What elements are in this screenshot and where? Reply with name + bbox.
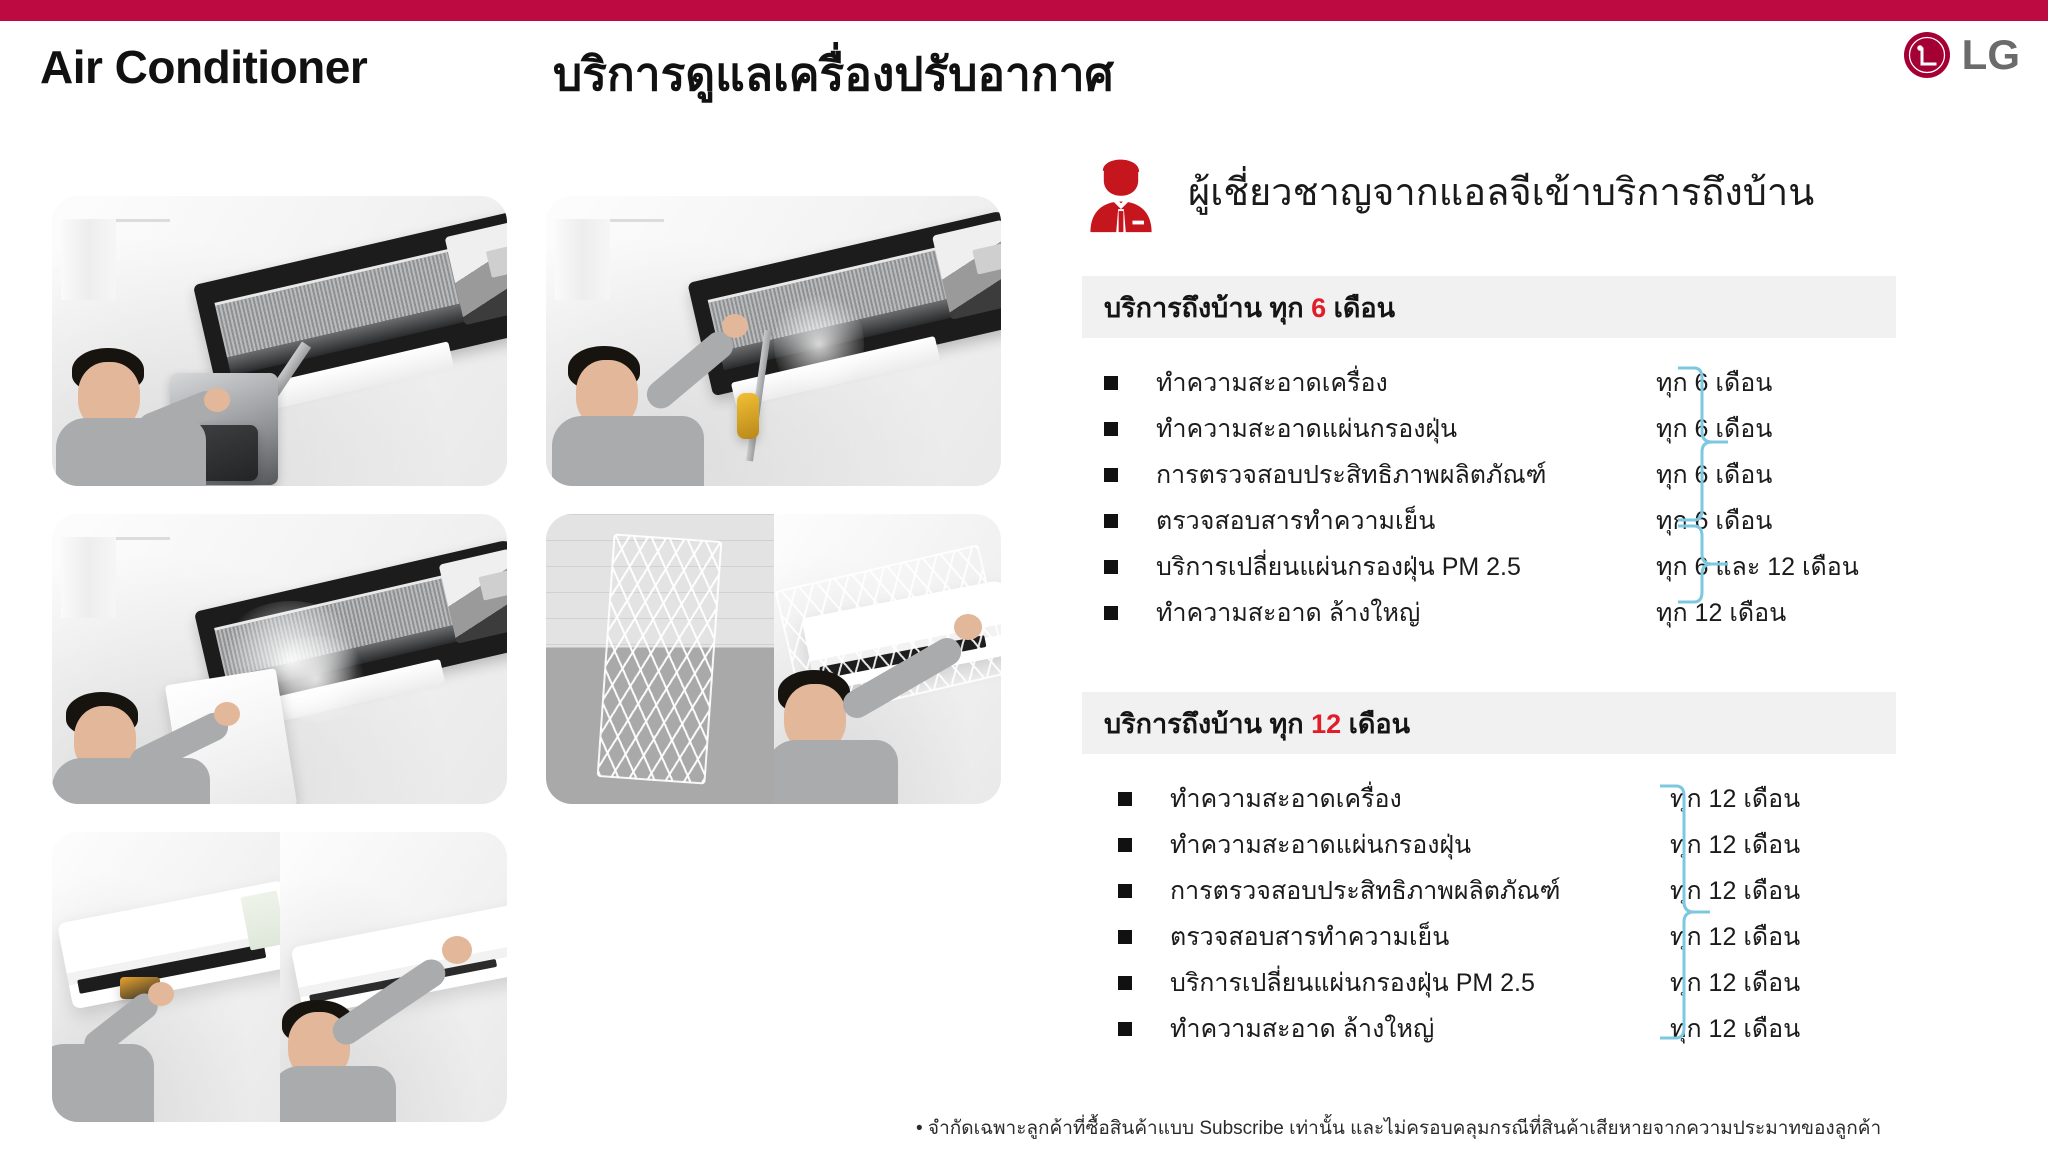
bullet-icon (1118, 1022, 1132, 1036)
photo-row-2 (52, 514, 1001, 804)
service-task: บริการเปลี่ยนแผ่นกรองฝุ่น PM 2.5 (1156, 547, 1656, 587)
service-frequency: ทุก 12 เดือน (1656, 593, 1786, 633)
table-row: บริการเปลี่ยนแผ่นกรองฝุ่น PM 2.5 ทุก 12 … (1082, 960, 1896, 1006)
slide-root: Air Conditioner บริการดูแลเครื่องปรับอาก… (0, 0, 2048, 1152)
lg-wordmark: LG (1962, 34, 2020, 76)
bullet-icon (1104, 468, 1118, 482)
service-frequency: ทุก 6 เดือน (1656, 455, 1772, 495)
service-task: การตรวจสอบประสิทธิภาพผลิตภัณฑ์ (1156, 455, 1656, 495)
bullet-icon (1104, 422, 1118, 436)
lg-logo: LG (1902, 30, 2020, 80)
bullet-icon (1118, 976, 1132, 990)
bullet-icon (1104, 376, 1118, 390)
service-frequency: ทุก 6 และ 12 เดือน (1656, 547, 1859, 587)
section-header-suffix: เดือน (1326, 293, 1395, 323)
technician-icon (1082, 148, 1160, 234)
service-frequency: ทุก 12 เดือน (1670, 825, 1800, 865)
photo-technician-vacuuming-open-ac-unit (52, 196, 507, 486)
photo-grid (52, 196, 1001, 1150)
photo-row-1 (52, 196, 1001, 486)
photo-pane-installing-filter (774, 514, 1002, 804)
bullet-icon (1118, 884, 1132, 898)
table-row: การตรวจสอบประสิทธิภาพผลิตภัณฑ์ ทุก 12 เด… (1082, 868, 1896, 914)
service-task: การตรวจสอบประสิทธิภาพผลิตภัณฑ์ (1170, 871, 1670, 911)
service-frequency: ทุก 12 เดือน (1670, 779, 1800, 819)
service-task: ทำความสะอาดแผ่นกรองฝุ่น (1170, 825, 1670, 865)
table-row: ทำความสะอาด ล้างใหญ่ ทุก 12 เดือน (1082, 1006, 1896, 1052)
photo-pane-filter-panel (546, 514, 774, 804)
service-section-12-months: บริการถึงบ้าน ทุก 12 เดือน ทำความสะอาดเค… (1082, 692, 1896, 1052)
service-rows-12-months: ทำความสะอาดเครื่อง ทุก 12 เดือน ทำความสะ… (1082, 776, 1896, 1052)
service-task: ตรวจสอบสารทำความเย็น (1170, 917, 1670, 957)
service-task: บริการเปลี่ยนแผ่นกรองฝุ่น PM 2.5 (1170, 963, 1670, 1003)
bullet-icon (1104, 560, 1118, 574)
section-header-12-months: บริการถึงบ้าน ทุก 12 เดือน (1082, 692, 1896, 754)
table-row: ทำความสะอาดเครื่อง ทุก 12 เดือน (1082, 776, 1896, 822)
page-title-thai: บริการดูแลเครื่องปรับอากาศ (553, 38, 1114, 111)
top-accent-banner (0, 0, 2048, 21)
section-header-number: 12 (1311, 709, 1341, 739)
expert-callout: ผู้เชี่ยวชาญจากแอลจีเข้าบริการถึงบ้าน (1082, 148, 1814, 234)
table-row: ทำความสะอาดแผ่นกรองฝุ่น ทุก 6 เดือน (1082, 406, 1896, 452)
table-row: ตรวจสอบสารทำความเย็น ทุก 6 เดือน (1082, 498, 1896, 544)
service-frequency: ทุก 6 เดือน (1656, 409, 1772, 449)
section-header-suffix: เดือน (1341, 709, 1410, 739)
table-row: การตรวจสอบประสิทธิภาพผลิตภัณฑ์ ทุก 6 เดื… (1082, 452, 1896, 498)
bullet-icon (1104, 514, 1118, 528)
table-row: ทำความสะอาดแผ่นกรองฝุ่น ทุก 12 เดือน (1082, 822, 1896, 868)
photo-pane-closing-panel (280, 832, 508, 1122)
table-row: บริการเปลี่ยนแผ่นกรองฝุ่น PM 2.5 ทุก 6 แ… (1082, 544, 1896, 590)
photo-technician-steam-cleaning-ac-unit (52, 514, 507, 804)
service-frequency: ทุก 6 เดือน (1656, 363, 1772, 403)
service-section-6-months: บริการถึงบ้าน ทุก 6 เดือน ทำความสะอาดเคร… (1082, 276, 1896, 636)
section-header-number: 6 (1311, 293, 1326, 323)
table-row: ทำความสะอาดเครื่อง ทุก 6 เดือน (1082, 360, 1896, 406)
bullet-icon (1118, 838, 1132, 852)
lg-circle-logo-icon (1902, 30, 1952, 80)
service-rows-6-months: ทำความสะอาดเครื่อง ทุก 6 เดือน ทำความสะอ… (1082, 360, 1896, 636)
service-frequency: ทุก 6 เดือน (1656, 501, 1772, 541)
service-frequency: ทุก 12 เดือน (1670, 963, 1800, 1003)
service-task: ทำความสะอาด ล้างใหญ่ (1156, 593, 1656, 633)
service-task: ตรวจสอบสารทำความเย็น (1156, 501, 1656, 541)
service-task: ทำความสะอาด ล้างใหญ่ (1170, 1009, 1670, 1049)
service-frequency: ทุก 12 เดือน (1670, 1009, 1800, 1049)
table-row: ตรวจสอบสารทำความเย็น ทุก 12 เดือน (1082, 914, 1896, 960)
section-header-prefix: บริการถึงบ้าน ทุก (1104, 709, 1311, 739)
bullet-icon (1118, 792, 1132, 806)
service-task: ทำความสะอาดแผ่นกรองฝุ่น (1156, 409, 1656, 449)
expert-callout-text: ผู้เชี่ยวชาญจากแอลจีเข้าบริการถึงบ้าน (1188, 161, 1814, 222)
footnote-text: • จำกัดเฉพาะลูกค้าที่ซื้อสินค้าแบบ Subsc… (916, 1113, 1881, 1143)
photo-measuring-and-closing-panel (52, 832, 507, 1122)
photo-technician-spraying-open-ac-unit (546, 196, 1001, 486)
service-frequency: ทุก 12 เดือน (1670, 871, 1800, 911)
service-frequency: ทุก 12 เดือน (1670, 917, 1800, 957)
section-header-6-months: บริการถึงบ้าน ทุก 6 เดือน (1082, 276, 1896, 338)
photo-row-3 (52, 832, 1001, 1122)
table-row: ทำความสะอาด ล้างใหญ่ ทุก 12 เดือน (1082, 590, 1896, 636)
section-header-prefix: บริการถึงบ้าน ทุก (1104, 293, 1311, 323)
service-task: ทำความสะอาดเครื่อง (1156, 363, 1656, 403)
service-task: ทำความสะอาดเครื่อง (1170, 779, 1670, 819)
photo-dust-filter-and-installation (546, 514, 1001, 804)
bullet-icon (1104, 606, 1118, 620)
photo-pane-measuring (52, 832, 280, 1122)
page-title-english: Air Conditioner (40, 40, 367, 94)
bullet-icon (1118, 930, 1132, 944)
